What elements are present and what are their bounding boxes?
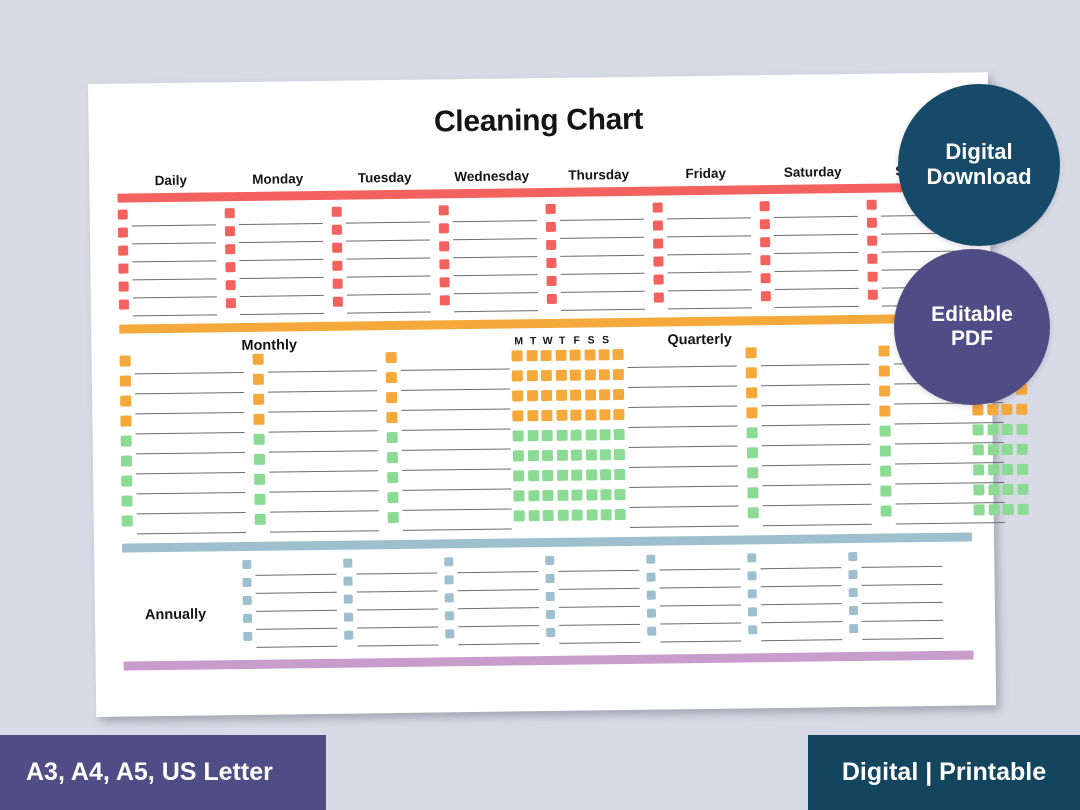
checkbox-square[interactable]: [601, 509, 612, 520]
task-line[interactable]: [118, 262, 216, 280]
checkbox-square[interactable]: [880, 446, 891, 457]
checkbox-square[interactable]: [557, 510, 568, 521]
checkbox-square[interactable]: [343, 577, 352, 586]
checkbox-matrix-row[interactable]: [512, 409, 614, 421]
write-in-line[interactable]: [269, 492, 378, 512]
write-in-line[interactable]: [269, 432, 378, 452]
task-line[interactable]: [386, 391, 510, 412]
checkbox-square[interactable]: [867, 236, 877, 246]
checkbox-square[interactable]: [599, 349, 610, 360]
write-in-line[interactable]: [453, 240, 537, 258]
task-line[interactable]: [332, 242, 430, 260]
checkbox-square[interactable]: [440, 295, 450, 305]
checkbox-square[interactable]: [343, 559, 352, 568]
task-line[interactable]: [440, 276, 538, 294]
checkbox-square[interactable]: [987, 444, 998, 455]
checkbox-square[interactable]: [386, 392, 397, 403]
write-in-line[interactable]: [762, 426, 871, 446]
checkbox-square[interactable]: [243, 596, 252, 605]
checkbox-square[interactable]: [546, 628, 555, 637]
checkbox-square[interactable]: [653, 220, 663, 230]
task-line[interactable]: [343, 575, 437, 592]
checkbox-square[interactable]: [600, 469, 611, 480]
checkbox-square[interactable]: [761, 273, 771, 283]
task-line[interactable]: [387, 470, 511, 491]
checkbox-square[interactable]: [868, 290, 878, 300]
checkbox-square[interactable]: [586, 489, 597, 500]
write-in-line[interactable]: [269, 452, 378, 472]
write-in-line[interactable]: [137, 514, 246, 534]
checkbox-square[interactable]: [599, 409, 610, 420]
task-line[interactable]: [226, 297, 324, 315]
task-line[interactable]: [653, 201, 751, 219]
checkbox-square[interactable]: [253, 414, 264, 425]
write-in-line[interactable]: [659, 572, 740, 589]
task-line[interactable]: [333, 296, 431, 314]
write-in-line[interactable]: [561, 275, 645, 293]
checkbox-square[interactable]: [243, 614, 252, 623]
checkbox-square[interactable]: [526, 370, 537, 381]
write-in-line[interactable]: [401, 371, 510, 391]
task-line[interactable]: [748, 624, 842, 641]
checkbox-square[interactable]: [528, 490, 539, 501]
checkbox-square[interactable]: [571, 490, 582, 501]
write-in-line[interactable]: [458, 610, 539, 627]
write-in-line[interactable]: [256, 595, 337, 612]
task-line[interactable]: [344, 593, 438, 610]
checkbox-square[interactable]: [512, 390, 523, 401]
write-in-line[interactable]: [775, 290, 859, 308]
checkbox-square[interactable]: [541, 410, 552, 421]
checkbox-square[interactable]: [439, 241, 449, 251]
checkbox-square[interactable]: [867, 200, 877, 210]
checkbox-square[interactable]: [586, 469, 597, 480]
task-line[interactable]: [747, 486, 871, 507]
write-in-line[interactable]: [561, 293, 645, 311]
task-line[interactable]: [444, 574, 538, 591]
checkbox-square[interactable]: [646, 555, 655, 564]
checkbox-square[interactable]: [513, 490, 524, 501]
write-in-line[interactable]: [761, 588, 842, 605]
checkbox-square[interactable]: [225, 262, 235, 272]
task-line[interactable]: [332, 206, 430, 224]
checkbox-square[interactable]: [254, 474, 265, 485]
checkbox-square[interactable]: [527, 450, 538, 461]
checkbox-square[interactable]: [747, 487, 758, 498]
write-in-line[interactable]: [356, 557, 437, 574]
checkbox-square[interactable]: [988, 504, 999, 515]
task-line[interactable]: [653, 219, 751, 237]
task-line[interactable]: [439, 258, 537, 276]
task-line[interactable]: [546, 203, 644, 221]
task-line[interactable]: [760, 254, 858, 272]
task-line[interactable]: [118, 244, 216, 262]
checkbox-square[interactable]: [118, 227, 128, 237]
checkbox-square[interactable]: [974, 504, 985, 515]
checkbox-square[interactable]: [344, 631, 353, 640]
checkbox-matrix-row[interactable]: [512, 369, 614, 381]
checkbox-square[interactable]: [542, 430, 553, 441]
checkbox-square[interactable]: [333, 279, 343, 289]
checkbox-square[interactable]: [647, 609, 656, 618]
checkbox-square[interactable]: [584, 369, 595, 380]
checkbox-square[interactable]: [747, 467, 758, 478]
checkbox-square[interactable]: [748, 607, 757, 616]
checkbox-square[interactable]: [988, 464, 999, 475]
task-line[interactable]: [119, 280, 217, 298]
checkbox-square[interactable]: [1016, 424, 1027, 435]
task-line[interactable]: [118, 226, 216, 244]
checkbox-square[interactable]: [600, 489, 611, 500]
checkbox-square[interactable]: [242, 560, 251, 569]
task-line[interactable]: [747, 570, 841, 587]
checkbox-square[interactable]: [253, 374, 264, 385]
checkbox-square[interactable]: [556, 450, 567, 461]
checkbox-square[interactable]: [881, 506, 892, 517]
checkbox-square[interactable]: [973, 484, 984, 495]
checkbox-square[interactable]: [867, 254, 877, 264]
write-in-line[interactable]: [668, 273, 752, 291]
task-line[interactable]: [647, 625, 741, 642]
write-in-line[interactable]: [256, 631, 337, 648]
checkbox-square[interactable]: [386, 352, 397, 363]
checkbox-square[interactable]: [988, 484, 999, 495]
checkbox-square[interactable]: [255, 514, 266, 525]
task-line[interactable]: [546, 257, 644, 275]
checkbox-square[interactable]: [557, 470, 568, 481]
checkbox-matrix-row[interactable]: [973, 464, 1031, 476]
checkbox-matrix-row[interactable]: [973, 424, 1031, 436]
checkbox-square[interactable]: [254, 434, 265, 445]
write-in-line[interactable]: [453, 204, 537, 222]
checkbox-square[interactable]: [614, 449, 625, 460]
checkbox-matrix-row[interactable]: [973, 444, 1031, 456]
write-in-line[interactable]: [761, 366, 870, 386]
checkbox-square[interactable]: [973, 444, 984, 455]
checkbox-square[interactable]: [513, 470, 524, 481]
task-line[interactable]: [654, 273, 752, 291]
task-line[interactable]: [760, 218, 858, 236]
task-line[interactable]: [761, 290, 859, 308]
checkbox-square[interactable]: [546, 240, 556, 250]
write-in-line[interactable]: [403, 510, 512, 530]
write-in-line[interactable]: [560, 203, 644, 221]
write-in-line[interactable]: [132, 226, 216, 244]
write-in-line[interactable]: [559, 609, 640, 626]
task-line[interactable]: [120, 354, 244, 375]
checkbox-square[interactable]: [121, 475, 132, 486]
task-line[interactable]: [614, 428, 738, 449]
write-in-line[interactable]: [268, 352, 377, 372]
write-in-line[interactable]: [240, 279, 324, 297]
checkbox-square[interactable]: [120, 415, 131, 426]
write-in-line[interactable]: [760, 552, 841, 569]
checkbox-square[interactable]: [613, 349, 624, 360]
task-line[interactable]: [388, 510, 512, 531]
checkbox-square[interactable]: [613, 389, 624, 400]
checkbox-square[interactable]: [570, 410, 581, 421]
checkbox-square[interactable]: [546, 222, 556, 232]
write-in-line[interactable]: [628, 348, 737, 368]
write-in-line[interactable]: [270, 512, 379, 532]
checkbox-square[interactable]: [879, 366, 890, 377]
task-line[interactable]: [653, 255, 751, 273]
checkbox-square[interactable]: [1001, 404, 1012, 415]
checkbox-square[interactable]: [585, 429, 596, 440]
write-in-line[interactable]: [136, 494, 245, 514]
checkbox-square[interactable]: [439, 259, 449, 269]
write-in-line[interactable]: [401, 391, 510, 411]
write-in-line[interactable]: [762, 486, 871, 506]
checkbox-square[interactable]: [747, 447, 758, 458]
write-in-line[interactable]: [458, 592, 539, 609]
write-in-line[interactable]: [269, 472, 378, 492]
checkbox-square[interactable]: [387, 492, 398, 503]
task-line[interactable]: [253, 412, 377, 433]
checkbox-square[interactable]: [556, 390, 567, 401]
checkbox-square[interactable]: [225, 244, 235, 254]
write-in-line[interactable]: [357, 593, 438, 610]
write-in-line[interactable]: [239, 261, 323, 279]
checkbox-square[interactable]: [647, 627, 656, 636]
write-in-line[interactable]: [239, 243, 323, 261]
checkbox-square[interactable]: [514, 510, 525, 521]
checkbox-square[interactable]: [439, 205, 449, 215]
checkbox-square[interactable]: [243, 632, 252, 641]
write-in-line[interactable]: [774, 218, 858, 236]
checkbox-square[interactable]: [746, 407, 757, 418]
checkbox-square[interactable]: [527, 430, 538, 441]
write-in-line[interactable]: [761, 406, 870, 426]
checkbox-square[interactable]: [880, 486, 891, 497]
checkbox-matrix-row[interactable]: [972, 404, 1030, 416]
checkbox-square[interactable]: [225, 208, 235, 218]
checkbox-square[interactable]: [570, 350, 581, 361]
checkbox-square[interactable]: [748, 625, 757, 634]
checkbox-square[interactable]: [1002, 424, 1013, 435]
task-line[interactable]: [344, 629, 438, 646]
write-in-line[interactable]: [559, 591, 640, 608]
write-in-line[interactable]: [256, 613, 337, 630]
checkbox-square[interactable]: [570, 390, 581, 401]
checkbox-matrix-row[interactable]: [973, 484, 1031, 496]
checkbox-matrix-row[interactable]: [513, 429, 615, 441]
checkbox-square[interactable]: [849, 624, 858, 633]
task-line[interactable]: [226, 279, 324, 297]
checkbox-square[interactable]: [614, 489, 625, 500]
task-line[interactable]: [614, 488, 738, 509]
checkbox-square[interactable]: [444, 557, 453, 566]
checkbox-square[interactable]: [120, 395, 131, 406]
checkbox-square[interactable]: [545, 556, 554, 565]
checkbox-square[interactable]: [386, 372, 397, 383]
write-in-line[interactable]: [761, 624, 842, 641]
write-in-line[interactable]: [629, 468, 738, 488]
task-line[interactable]: [444, 556, 538, 573]
checkbox-square[interactable]: [614, 429, 625, 440]
task-line[interactable]: [547, 275, 645, 293]
checkbox-square[interactable]: [528, 510, 539, 521]
write-in-line[interactable]: [774, 236, 858, 254]
checkbox-square[interactable]: [654, 274, 664, 284]
write-in-line[interactable]: [667, 219, 751, 237]
write-in-line[interactable]: [453, 258, 537, 276]
checkbox-square[interactable]: [512, 370, 523, 381]
write-in-line[interactable]: [761, 606, 842, 623]
write-in-line[interactable]: [135, 394, 244, 414]
task-line[interactable]: [120, 394, 244, 415]
checkbox-matrix[interactable]: [512, 349, 616, 530]
write-in-line[interactable]: [862, 623, 943, 640]
write-in-line[interactable]: [402, 490, 511, 510]
checkbox-square[interactable]: [546, 592, 555, 601]
task-line[interactable]: [255, 512, 379, 533]
write-in-line[interactable]: [667, 237, 751, 255]
checkbox-square[interactable]: [555, 370, 566, 381]
write-in-line[interactable]: [628, 408, 737, 428]
checkbox-square[interactable]: [849, 588, 858, 597]
checkbox-square[interactable]: [747, 571, 756, 580]
checkbox-square[interactable]: [333, 297, 343, 307]
task-line[interactable]: [118, 208, 216, 226]
checkbox-square[interactable]: [444, 575, 453, 584]
write-in-line[interactable]: [762, 446, 871, 466]
write-in-line[interactable]: [357, 611, 438, 628]
task-line[interactable]: [387, 430, 511, 451]
task-line[interactable]: [225, 207, 323, 225]
checkbox-square[interactable]: [344, 595, 353, 604]
task-line[interactable]: [747, 466, 871, 487]
write-in-line[interactable]: [667, 255, 751, 273]
task-line[interactable]: [225, 243, 323, 261]
checkbox-square[interactable]: [571, 470, 582, 481]
task-line[interactable]: [121, 454, 245, 475]
checkbox-square[interactable]: [527, 390, 538, 401]
task-line[interactable]: [386, 351, 510, 372]
checkbox-square[interactable]: [748, 589, 757, 598]
checkbox-square[interactable]: [555, 350, 566, 361]
checkbox-square[interactable]: [542, 490, 553, 501]
checkbox-square[interactable]: [1002, 444, 1013, 455]
write-in-line[interactable]: [347, 296, 431, 314]
write-in-line[interactable]: [560, 257, 644, 275]
checkbox-square[interactable]: [748, 507, 759, 518]
checkbox-square[interactable]: [119, 299, 129, 309]
checkbox-square[interactable]: [647, 591, 656, 600]
task-line[interactable]: [613, 368, 737, 389]
task-line[interactable]: [440, 294, 538, 312]
write-in-line[interactable]: [558, 573, 639, 590]
task-line[interactable]: [546, 609, 640, 626]
checkbox-square[interactable]: [849, 606, 858, 615]
checkbox-square[interactable]: [226, 280, 236, 290]
checkbox-square[interactable]: [586, 509, 597, 520]
write-in-line[interactable]: [762, 466, 871, 486]
task-line[interactable]: [242, 559, 336, 576]
task-line[interactable]: [333, 278, 431, 296]
write-in-line[interactable]: [133, 298, 217, 316]
task-line[interactable]: [849, 587, 943, 604]
task-line[interactable]: [646, 554, 740, 571]
task-line[interactable]: [546, 591, 640, 608]
task-line[interactable]: [746, 346, 870, 367]
checkbox-square[interactable]: [654, 292, 664, 302]
checkbox-square[interactable]: [526, 350, 537, 361]
write-in-line[interactable]: [268, 392, 377, 412]
checkbox-square[interactable]: [614, 469, 625, 480]
write-in-line[interactable]: [239, 207, 323, 225]
write-in-line[interactable]: [132, 208, 216, 226]
checkbox-square[interactable]: [987, 404, 998, 415]
write-in-line[interactable]: [458, 628, 539, 645]
checkbox-square[interactable]: [541, 350, 552, 361]
checkbox-square[interactable]: [253, 394, 264, 405]
task-line[interactable]: [746, 386, 870, 407]
write-in-line[interactable]: [357, 629, 438, 646]
write-in-line[interactable]: [560, 239, 644, 257]
checkbox-square[interactable]: [879, 386, 890, 397]
write-in-line[interactable]: [347, 278, 431, 296]
task-line[interactable]: [849, 623, 943, 640]
checkbox-square[interactable]: [118, 209, 128, 219]
checkbox-square[interactable]: [440, 277, 450, 287]
checkbox-square[interactable]: [653, 202, 663, 212]
checkbox-square[interactable]: [513, 450, 524, 461]
write-in-line[interactable]: [457, 556, 538, 573]
write-in-line[interactable]: [402, 450, 511, 470]
checkbox-square[interactable]: [512, 410, 523, 421]
checkbox-square[interactable]: [761, 291, 771, 301]
write-in-line[interactable]: [667, 201, 751, 219]
checkbox-square[interactable]: [570, 370, 581, 381]
write-in-line[interactable]: [660, 625, 741, 642]
task-line[interactable]: [613, 408, 737, 429]
task-line[interactable]: [121, 494, 245, 515]
checkbox-square[interactable]: [1002, 464, 1013, 475]
checkbox-square[interactable]: [973, 424, 984, 435]
checkbox-square[interactable]: [848, 570, 857, 579]
task-line[interactable]: [653, 237, 751, 255]
task-line[interactable]: [332, 224, 430, 242]
checkbox-square[interactable]: [556, 410, 567, 421]
task-line[interactable]: [243, 613, 337, 630]
checkbox-square[interactable]: [613, 409, 624, 420]
checkbox-square[interactable]: [387, 452, 398, 463]
checkbox-square[interactable]: [118, 245, 128, 255]
task-line[interactable]: [647, 590, 741, 607]
task-line[interactable]: [253, 352, 377, 373]
write-in-line[interactable]: [558, 555, 639, 572]
write-in-line[interactable]: [402, 470, 511, 490]
task-line[interactable]: [615, 508, 739, 529]
task-line[interactable]: [386, 371, 510, 392]
write-in-line[interactable]: [629, 428, 738, 448]
task-line[interactable]: [747, 446, 871, 467]
checkbox-square[interactable]: [747, 427, 758, 438]
checkbox-matrix-row[interactable]: [512, 349, 614, 361]
checkbox-square[interactable]: [556, 430, 567, 441]
task-line[interactable]: [748, 606, 842, 623]
write-in-line[interactable]: [255, 577, 336, 594]
checkbox-square[interactable]: [253, 354, 264, 365]
checkbox-square[interactable]: [868, 272, 878, 282]
checkbox-square[interactable]: [600, 449, 611, 460]
write-in-line[interactable]: [239, 225, 323, 243]
write-in-line[interactable]: [136, 434, 245, 454]
checkbox-square[interactable]: [445, 593, 454, 602]
checkbox-square[interactable]: [572, 510, 583, 521]
task-line[interactable]: [848, 551, 942, 568]
